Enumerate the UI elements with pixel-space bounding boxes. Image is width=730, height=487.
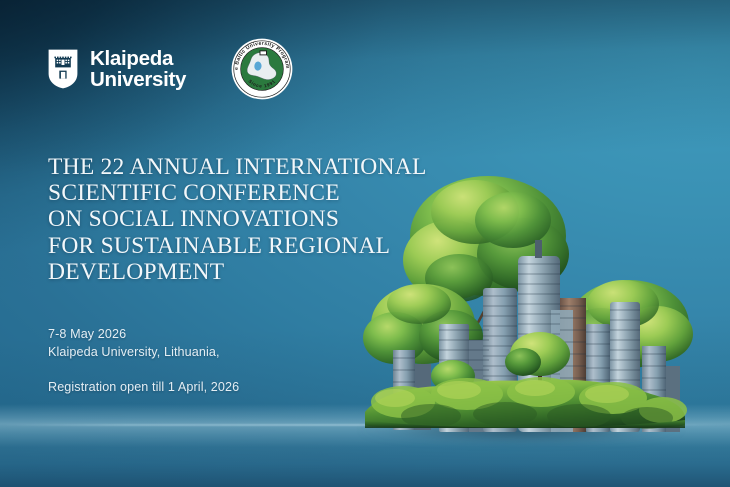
klaipeda-university-logo: Klaipeda University: [48, 48, 186, 90]
klaipeda-wordmark-line2: University: [90, 69, 186, 90]
klaipeda-university-shield-icon: [48, 49, 78, 89]
floating-green-city-island-illustration: [355, 128, 691, 428]
baltic-university-programme-seal-icon: The Baltic University Programme Since 19…: [231, 38, 293, 100]
logo-row: Klaipeda University: [48, 38, 293, 100]
conference-poster: Klaipeda University: [0, 0, 730, 487]
event-details: 7-8 May 2026 Klaipeda University, Lithua…: [48, 326, 239, 397]
klaipeda-wordmark-line1: Klaipeda: [90, 48, 186, 69]
klaipeda-university-wordmark: Klaipeda University: [90, 48, 186, 90]
event-location: Klaipeda University, Lithuania,: [48, 344, 239, 362]
event-dates: 7-8 May 2026: [48, 326, 239, 344]
registration-deadline: Registration open till 1 April, 2026: [48, 379, 239, 397]
